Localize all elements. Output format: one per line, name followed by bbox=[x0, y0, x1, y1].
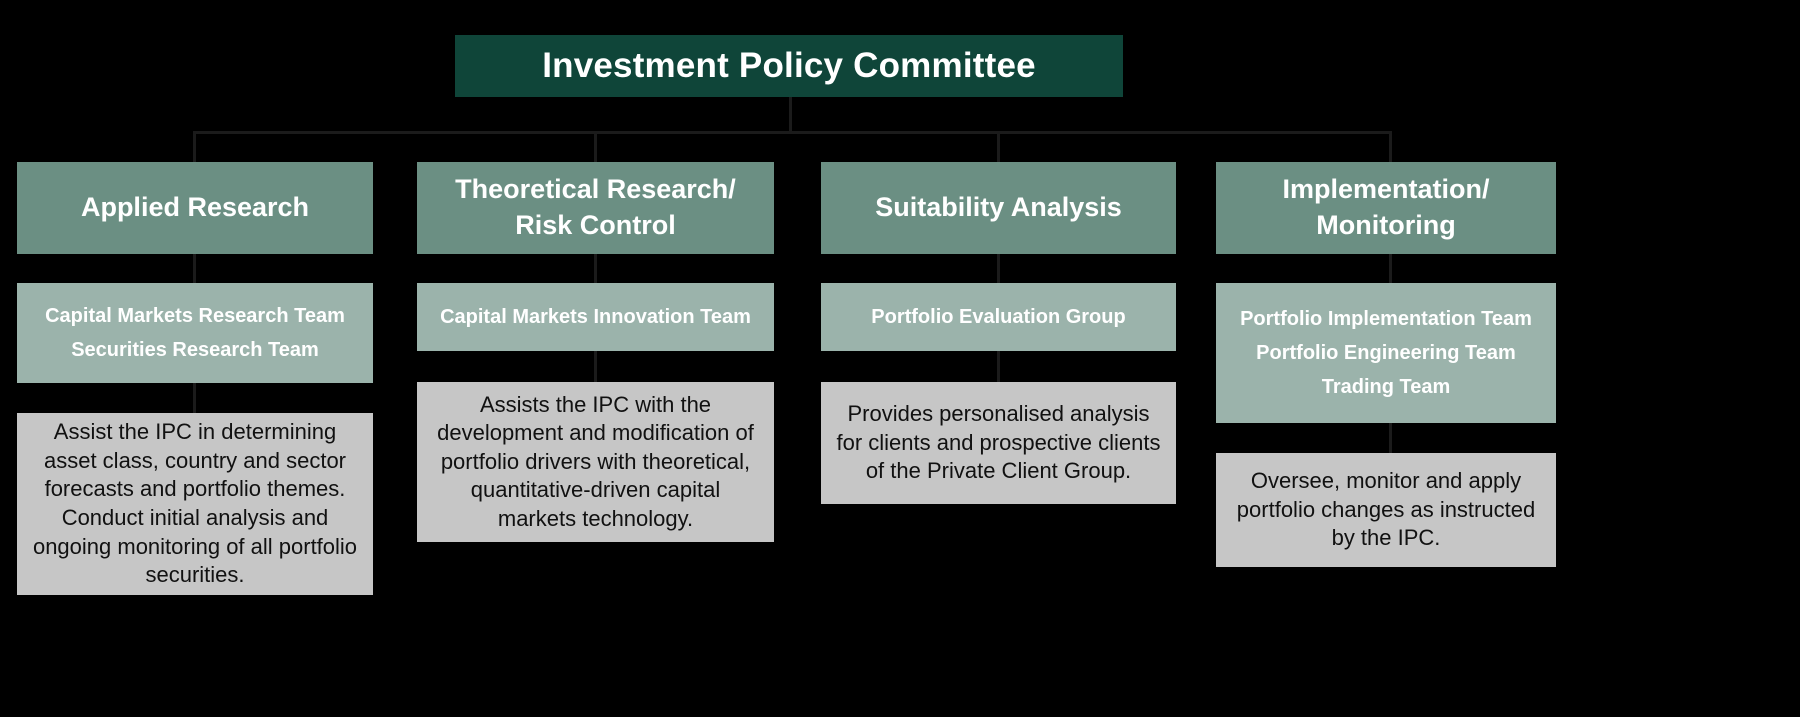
column-header-line: Suitability Analysis bbox=[875, 190, 1122, 226]
team-item: Securities Research Team bbox=[71, 333, 319, 367]
column-suitability-analysis: Suitability Analysis Portfolio Evaluatio… bbox=[821, 162, 1176, 504]
connector-root-stem bbox=[789, 97, 792, 133]
connector-drop-col-1 bbox=[594, 131, 597, 162]
column-header-line: Applied Research bbox=[81, 190, 309, 226]
column-teams-theoretical-research-risk-control[interactable]: Capital Markets Innovation Team bbox=[417, 283, 774, 351]
column-teams-implementation-monitoring[interactable]: Portfolio Implementation Team Portfolio … bbox=[1216, 283, 1556, 423]
column-header-theoretical-research-risk-control[interactable]: Theoretical Research/ Risk Control bbox=[417, 162, 774, 254]
column-description-theoretical-research-risk-control: Assists the IPC with the development and… bbox=[417, 382, 774, 542]
column-header-implementation-monitoring[interactable]: Implementation/ Monitoring bbox=[1216, 162, 1556, 254]
root-node-investment-policy-committee[interactable]: Investment Policy Committee bbox=[455, 35, 1123, 97]
column-header-line: Theoretical Research/ bbox=[455, 172, 736, 208]
team-item: Portfolio Evaluation Group bbox=[871, 300, 1125, 334]
column-description-applied-research: Assist the IPC in determining asset clas… bbox=[17, 413, 373, 595]
column-header-applied-research[interactable]: Applied Research bbox=[17, 162, 373, 254]
root-node-title: Investment Policy Committee bbox=[542, 46, 1036, 86]
team-item: Capital Markets Innovation Team bbox=[440, 300, 751, 334]
column-teams-suitability-analysis[interactable]: Portfolio Evaluation Group bbox=[821, 283, 1176, 351]
connector-drop-col-2 bbox=[997, 131, 1000, 162]
column-applied-research: Applied Research Capital Markets Researc… bbox=[17, 162, 373, 595]
team-item: Portfolio Engineering Team bbox=[1256, 336, 1516, 370]
connector-drop-col-3 bbox=[1389, 131, 1392, 162]
column-description-text: Provides personalised analysis for clien… bbox=[835, 400, 1162, 486]
column-description-implementation-monitoring: Oversee, monitor and apply portfolio cha… bbox=[1216, 453, 1556, 567]
column-header-line: Implementation/ bbox=[1282, 172, 1489, 208]
team-item: Trading Team bbox=[1322, 370, 1451, 404]
connector-drop-col-0 bbox=[193, 131, 196, 162]
column-header-line: Monitoring bbox=[1282, 208, 1489, 244]
column-description-text: Oversee, monitor and apply portfolio cha… bbox=[1230, 467, 1542, 553]
team-item: Capital Markets Research Team bbox=[45, 299, 345, 333]
org-chart: Investment Policy Committee Applied Rese… bbox=[0, 0, 1800, 717]
column-header-suitability-analysis[interactable]: Suitability Analysis bbox=[821, 162, 1176, 254]
column-theoretical-research-risk-control: Theoretical Research/ Risk Control Capit… bbox=[417, 162, 774, 542]
column-header-line: Risk Control bbox=[455, 208, 736, 244]
column-description-suitability-analysis: Provides personalised analysis for clien… bbox=[821, 382, 1176, 504]
column-description-text: Assists the IPC with the development and… bbox=[431, 391, 760, 534]
column-description-text: Assist the IPC in determining asset clas… bbox=[31, 418, 359, 590]
column-teams-applied-research[interactable]: Capital Markets Research Team Securities… bbox=[17, 283, 373, 383]
column-implementation-monitoring: Implementation/ Monitoring Portfolio Imp… bbox=[1216, 162, 1556, 567]
team-item: Portfolio Implementation Team bbox=[1240, 302, 1532, 336]
connector-horizontal-bus bbox=[193, 131, 1392, 134]
